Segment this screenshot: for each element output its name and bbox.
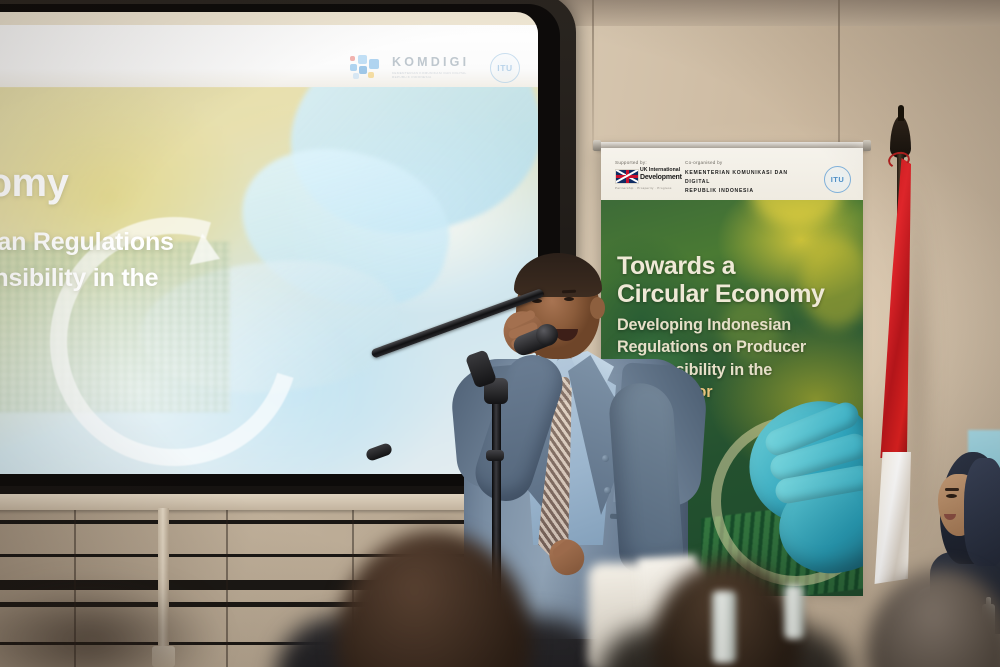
speaker-person: [470, 255, 680, 667]
attendee-table: [906, 634, 1000, 667]
itu-logo-icon: ITU: [490, 53, 520, 83]
microphone-grille-icon: [536, 324, 558, 346]
slide-text-block: conomy donesian Regulations Responsibili…: [0, 162, 338, 333]
slide-title: conomy: [0, 162, 338, 204]
uk-logo-line1: UK International: [640, 168, 682, 174]
microphone-stand-knob: [486, 450, 504, 461]
conference-photo: KOMDIGI KEMENTERIAN KOMUNIKASI DAN DIGIT…: [0, 0, 1000, 667]
microphone-stand: [492, 400, 501, 667]
slide-subtitle-line: Responsibility in the: [0, 260, 338, 296]
speaker-jacket-button: [604, 487, 611, 494]
komdigi-wordmark: KOMDIGI KEMENTERIAN KOMUNIKASI DAN DIGIT…: [392, 56, 478, 80]
speaker-ear: [590, 297, 605, 319]
banner-coorganised-by-label: Co-organised by: [685, 160, 722, 165]
uk-logo-subtitle: Partnership · Prosperity · Progress: [615, 186, 672, 190]
slide-subtitle-line: ector: [0, 297, 338, 333]
ministry-line1: KEMENTERIAN KOMUNIKASI DAN DIGITAL: [685, 169, 813, 187]
speaker-trousers: [518, 645, 636, 667]
ministry-line2: REPUBLIK INDONESIA: [685, 187, 813, 196]
speaker-hair: [514, 253, 602, 297]
uk-logo-line2: Development: [640, 174, 682, 182]
slide-logo-group: KOMDIGI KEMENTERIAN KOMUNIKASI DAN DIGIT…: [350, 53, 520, 83]
foreground-shadow: [0, 580, 220, 667]
ministry-wordmark: KEMENTERIAN KOMUNIKASI DAN DIGITAL REPUB…: [685, 169, 813, 196]
wall-seam-upper: [592, 0, 594, 150]
slide-header-band: KOMDIGI KEMENTERIAN KOMUNIKASI DAN DIGIT…: [0, 25, 538, 87]
banner-header-band: Supported by: Co-organised by UK Interna…: [601, 148, 863, 200]
slide-subtitle-line: donesian Regulations: [0, 224, 338, 260]
speaker-jacket-button: [602, 455, 609, 462]
attendee-hijab-drape: [964, 458, 1000, 566]
uk-aid-wordmark: UK International Development: [640, 168, 682, 182]
speaker-eye: [564, 297, 574, 301]
seated-attendee: [930, 452, 1000, 667]
uk-flag-icon: [615, 169, 639, 184]
attendee-eyebrow: [945, 488, 959, 491]
itu-logo-icon: ITU: [824, 166, 851, 193]
attendee-eye: [946, 494, 957, 498]
speaker-arm-right: [607, 381, 684, 575]
banner-supported-by-label: Supported by:: [615, 160, 647, 165]
komdigi-logo-icon: [350, 55, 380, 81]
slide-subtitle: donesian Regulations Responsibility in t…: [0, 224, 338, 333]
